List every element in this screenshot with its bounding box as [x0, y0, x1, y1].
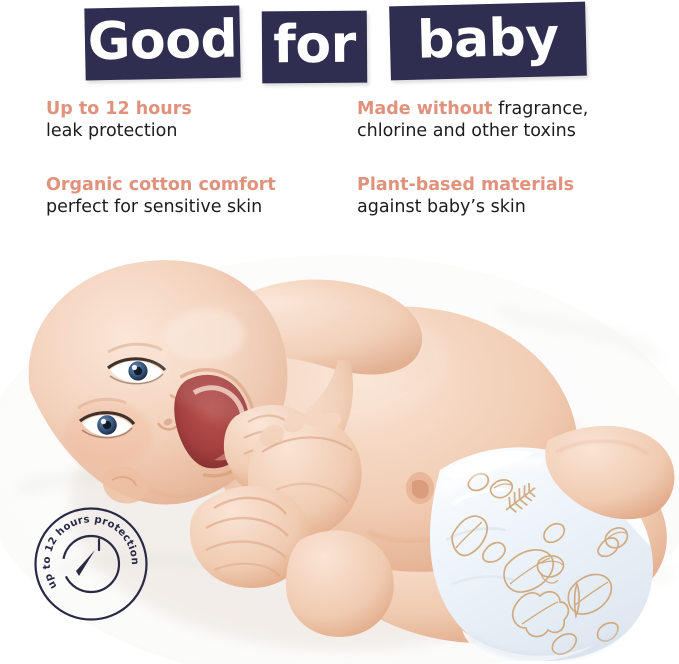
- feature-organic-cotton: Organic cotton comfort perfect for sensi…: [46, 174, 346, 219]
- photo-highlight: [150, 290, 450, 430]
- feature-subtext: against baby’s skin: [357, 196, 657, 219]
- headline-word-for: for: [262, 11, 368, 84]
- feature-strong-text: Organic cotton comfort: [46, 175, 276, 195]
- feature-rest-text: fragrance,: [493, 99, 589, 119]
- feature-list: Up to 12 hours leak protection Made with…: [0, 92, 679, 240]
- protection-seal-svg: up to 12 hours protection: [33, 506, 149, 622]
- feature-headline: Made without fragrance,: [357, 98, 657, 120]
- baby-eye-lower: [80, 413, 134, 438]
- feature-leak-protection: Up to 12 hours leak protection: [46, 98, 346, 143]
- feature-subtext: chlorine and other toxins: [357, 120, 657, 143]
- feature-made-without: Made without fragrance, chlorine and oth…: [357, 98, 657, 143]
- headline-banner: Good for baby: [0, 0, 679, 92]
- feature-subtext: leak protection: [46, 120, 346, 143]
- headline-word-baby: baby: [389, 2, 587, 81]
- feature-strong-text: Plant-based materials: [357, 175, 574, 195]
- headline-word-good: Good: [84, 6, 240, 81]
- feature-strong-text: Up to 12 hours: [46, 99, 192, 119]
- timer-hand: [76, 550, 95, 576]
- protection-seal-badge: up to 12 hours protection: [33, 506, 149, 622]
- seal-text-path: up to 12 hours protection: [42, 514, 140, 590]
- baby-foot-second: [286, 530, 394, 636]
- feature-headline: Organic cotton comfort: [46, 174, 346, 196]
- feature-headline: Up to 12 hours: [46, 98, 346, 120]
- stopwatch-timer-icon: [63, 536, 119, 592]
- feature-subtext: perfect for sensitive skin: [46, 196, 346, 219]
- seal-curved-text: up to 12 hours protection: [42, 514, 140, 590]
- feature-strong-text: Made without: [357, 99, 493, 119]
- feature-headline: Plant-based materials: [357, 174, 657, 196]
- feature-plant-based: Plant-based materials against baby’s ski…: [357, 174, 657, 219]
